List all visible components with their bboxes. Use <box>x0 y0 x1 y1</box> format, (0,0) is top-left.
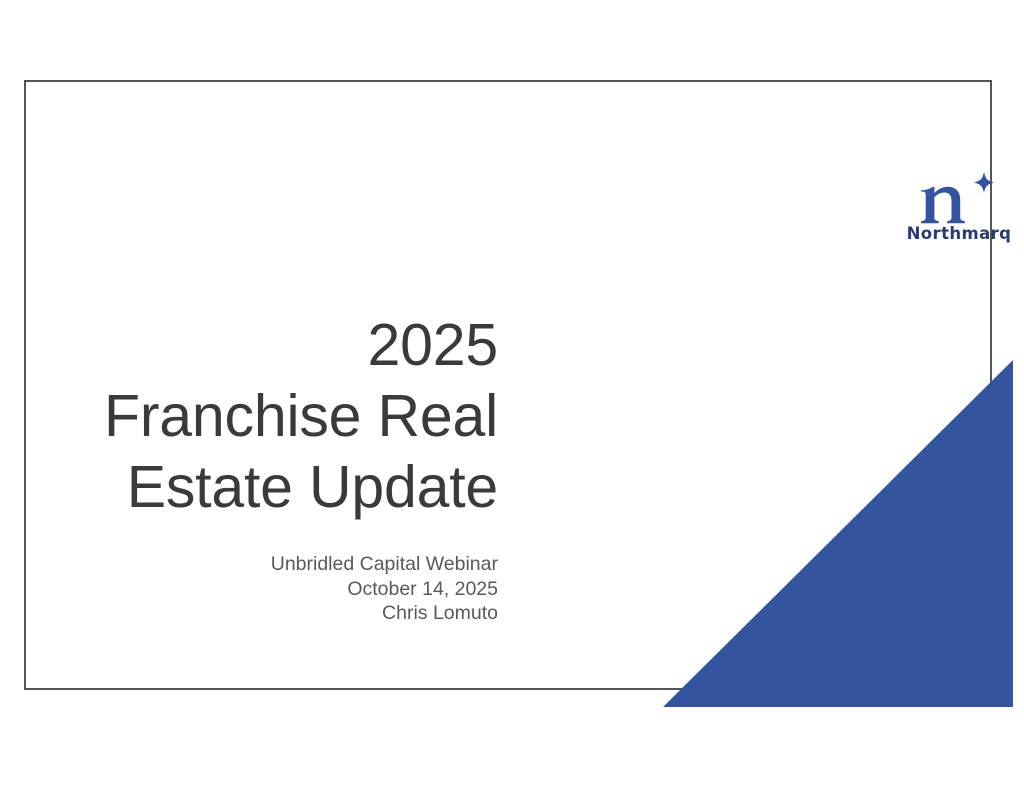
northmarq-wordmark: Northmarq <box>902 226 1016 243</box>
northmarq-n-star-icon <box>916 170 1002 228</box>
title-line-2: Franchise Real <box>66 381 498 452</box>
title-line-3: Estate Update <box>66 452 498 523</box>
subtitle-line-event: Unbridled Capital Webinar <box>66 552 498 577</box>
subtitle-line-date: October 14, 2025 <box>66 577 498 602</box>
slide-frame: Northmarq 2025 Franchise Real Estate Upd… <box>24 80 992 690</box>
slide-canvas: Northmarq 2025 Franchise Real Estate Upd… <box>0 0 1024 791</box>
title-line-1: 2025 <box>66 310 498 381</box>
slide-title: 2025 Franchise Real Estate Update <box>66 310 498 523</box>
subtitle-line-presenter: Chris Lomuto <box>66 601 498 626</box>
northmarq-logo: Northmarq <box>902 170 1016 252</box>
slide-subtitle: Unbridled Capital Webinar October 14, 20… <box>66 552 498 626</box>
